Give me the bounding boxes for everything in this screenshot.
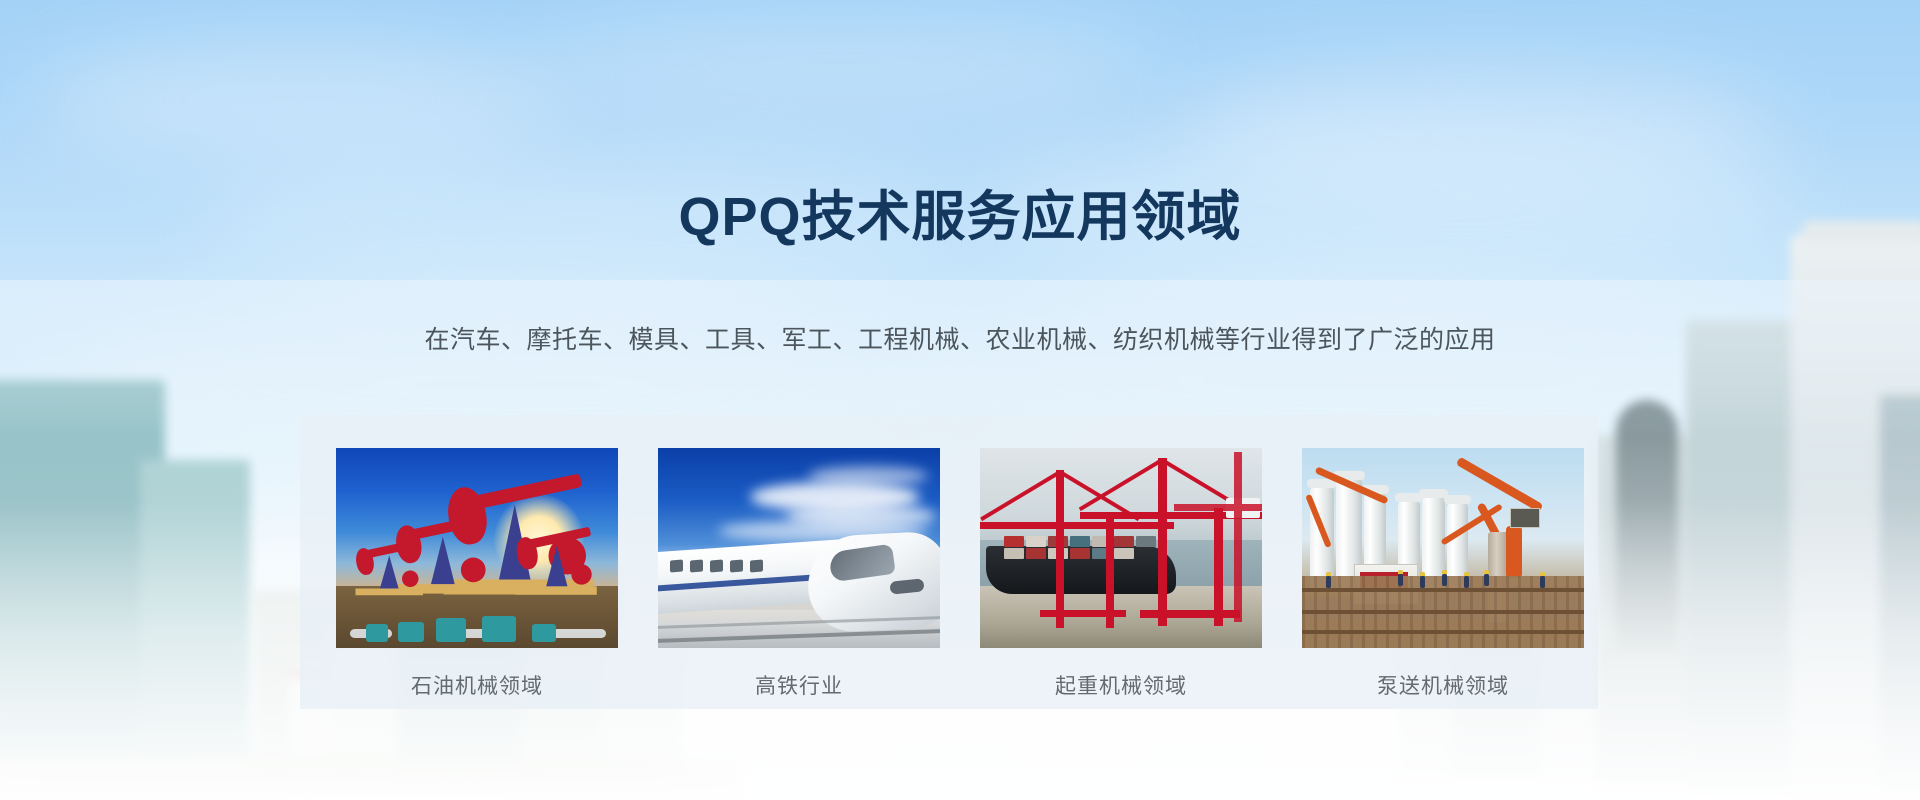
card-caption: 起重机械领域 bbox=[980, 670, 1262, 700]
card-caption: 泵送机械领域 bbox=[1302, 670, 1584, 700]
card-caption: 高铁行业 bbox=[658, 670, 940, 700]
page-subtitle: 在汽车、摩托车、模具、工具、军工、工程机械、农业机械、纺织机械等行业得到了广泛的… bbox=[0, 320, 1920, 356]
card-caption: 石油机械领域 bbox=[336, 670, 618, 700]
application-card[interactable]: 石油机械领域 bbox=[336, 448, 618, 700]
oil-pumpjacks-photo[interactable] bbox=[336, 448, 618, 648]
application-card[interactable]: 起重机械领域 bbox=[980, 448, 1262, 700]
application-card[interactable]: 高铁行业 bbox=[658, 448, 940, 700]
application-card[interactable]: 泵送机械领域 bbox=[1302, 448, 1584, 700]
hero-banner: QPQ技术服务应用领域 在汽车、摩托车、模具、工具、军工、工程机械、农业机械、纺… bbox=[0, 0, 1920, 800]
high-speed-train-photo[interactable] bbox=[658, 448, 940, 648]
port-gantry-cranes-photo[interactable] bbox=[980, 448, 1262, 648]
page-title: QPQ技术服务应用领域 bbox=[0, 188, 1920, 247]
concrete-pumping-machinery-photo[interactable] bbox=[1302, 448, 1584, 648]
application-cards-panel: 石油机械领域 bbox=[300, 415, 1598, 709]
hero-content: QPQ技术服务应用领域 在汽车、摩托车、模具、工具、军工、工程机械、农业机械、纺… bbox=[0, 0, 1920, 800]
